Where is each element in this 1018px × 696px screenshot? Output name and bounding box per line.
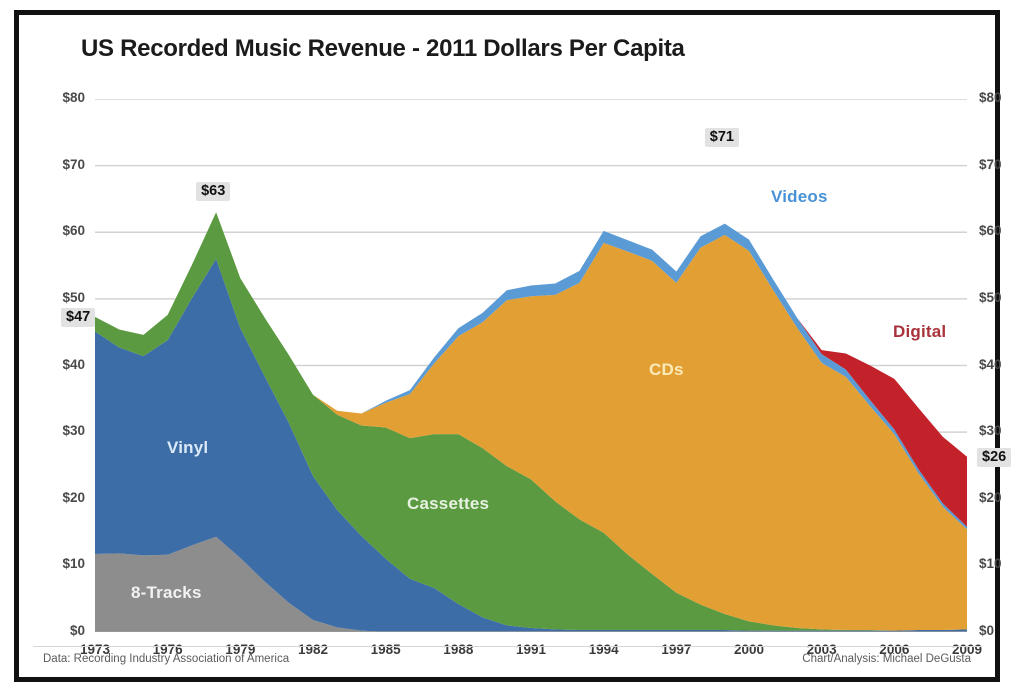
y-axis-tick-label-right: $70 bbox=[979, 157, 1018, 172]
y-axis-tick-label-left: $70 bbox=[33, 157, 85, 172]
series-label-cds: CDs bbox=[649, 360, 684, 380]
chart-screenshot: US Recorded Music Revenue - 2011 Dollars… bbox=[0, 0, 1018, 696]
y-axis-tick-label-right: $60 bbox=[979, 223, 1018, 238]
callout-value-63: $63 bbox=[196, 182, 230, 201]
page-title: US Recorded Music Revenue - 2011 Dollars… bbox=[81, 35, 685, 63]
x-axis-tick-label: 1991 bbox=[516, 642, 546, 657]
y-axis-tick-label-left: $20 bbox=[33, 490, 85, 505]
y-axis-tick-label-right: $30 bbox=[979, 423, 1018, 438]
callout-value-71: $71 bbox=[705, 128, 739, 147]
plot-area bbox=[95, 99, 967, 632]
y-axis-tick-label-right: $0 bbox=[979, 623, 1018, 638]
x-axis-tick-label: 1985 bbox=[371, 642, 401, 657]
y-axis-tick-label-left: $0 bbox=[33, 623, 85, 638]
y-axis-tick-label-right: $40 bbox=[979, 357, 1018, 372]
y-axis-tick-label-left: $50 bbox=[33, 290, 85, 305]
y-axis-tick-label-left: $10 bbox=[33, 556, 85, 571]
series-label-videos: Videos bbox=[771, 187, 828, 207]
chart-frame: US Recorded Music Revenue - 2011 Dollars… bbox=[14, 10, 1000, 682]
y-axis-tick-label-left: $40 bbox=[33, 357, 85, 372]
series-label-cassettes: Cassettes bbox=[407, 494, 489, 514]
y-axis-tick-label-left: $30 bbox=[33, 423, 85, 438]
x-axis-tick-label: 1997 bbox=[661, 642, 691, 657]
series-label-digital: Digital bbox=[893, 322, 946, 342]
y-axis-tick-label-left: $60 bbox=[33, 223, 85, 238]
callout-value-47: $47 bbox=[61, 308, 95, 327]
x-axis-tick-label: 1988 bbox=[443, 642, 473, 657]
callout-value-26: $26 bbox=[977, 448, 1011, 467]
y-axis-tick-label-left: $80 bbox=[33, 90, 85, 105]
x-axis-tick-label: 1982 bbox=[298, 642, 328, 657]
area-series-group bbox=[95, 212, 967, 632]
x-axis-tick-label: 2000 bbox=[734, 642, 764, 657]
chart-credit-note: Chart/Analysis: Michael DeGusta bbox=[802, 653, 971, 665]
stacked-area-chart bbox=[95, 99, 967, 632]
series-label-8-tracks: 8-Tracks bbox=[131, 583, 202, 603]
y-axis-tick-label-right: $20 bbox=[979, 490, 1018, 505]
y-axis-tick-label-right: $50 bbox=[979, 290, 1018, 305]
data-source-note: Data: Recording Industry Association of … bbox=[43, 653, 289, 665]
y-axis-tick-label-right: $10 bbox=[979, 556, 1018, 571]
footer-divider bbox=[33, 646, 981, 647]
y-axis-tick-label-right: $80 bbox=[979, 90, 1018, 105]
series-label-vinyl: Vinyl bbox=[167, 438, 208, 458]
x-axis-tick-label: 1994 bbox=[589, 642, 619, 657]
